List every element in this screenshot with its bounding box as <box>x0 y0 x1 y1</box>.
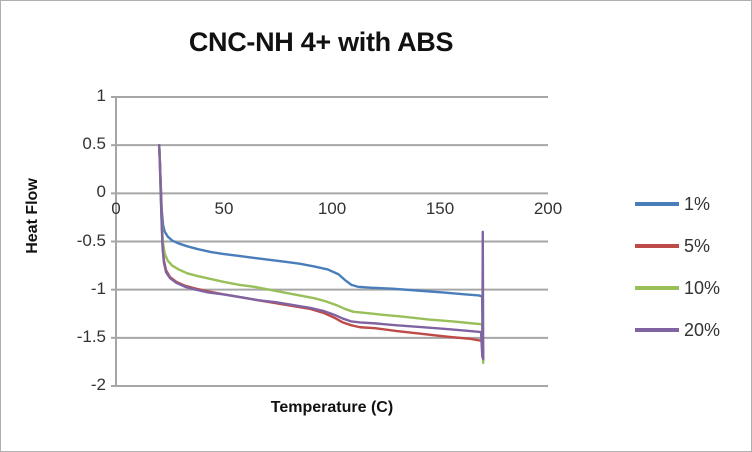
legend-label: 1% <box>684 194 710 215</box>
x-tick-label: 200 <box>525 199 571 219</box>
legend-item[interactable]: 5% <box>635 225 720 267</box>
chart-container: CNC-NH 4+ with ABS Heat Flow Temperature… <box>0 0 752 452</box>
y-tick-label: -1.5 <box>62 327 106 347</box>
y-tick-label: 1 <box>62 86 106 106</box>
y-tick-label: -0.5 <box>62 231 106 251</box>
legend-item[interactable]: 1% <box>635 183 720 225</box>
legend-item[interactable]: 20% <box>635 309 720 351</box>
y-tick-label: 0.5 <box>62 134 106 154</box>
x-tick-label: 0 <box>93 199 139 219</box>
legend-label: 5% <box>684 236 710 257</box>
legend-swatch-icon <box>635 202 679 206</box>
x-tick-label: 50 <box>201 199 247 219</box>
legend-swatch-icon <box>635 328 679 332</box>
x-tick-label: 100 <box>309 199 355 219</box>
series-line-10pct <box>159 145 483 363</box>
legend-item[interactable]: 10% <box>635 267 720 309</box>
y-tick-label: -1 <box>62 279 106 299</box>
chart-legend: 1%5%10%20% <box>635 183 720 351</box>
legend-label: 20% <box>684 320 720 341</box>
y-axis-title: Heat Flow <box>24 166 42 266</box>
x-tick-label: 150 <box>417 199 463 219</box>
y-tick-label: -2 <box>62 375 106 395</box>
legend-label: 10% <box>684 278 720 299</box>
legend-swatch-icon <box>635 244 679 248</box>
x-axis-title: Temperature (C) <box>116 399 548 417</box>
legend-swatch-icon <box>635 286 679 290</box>
